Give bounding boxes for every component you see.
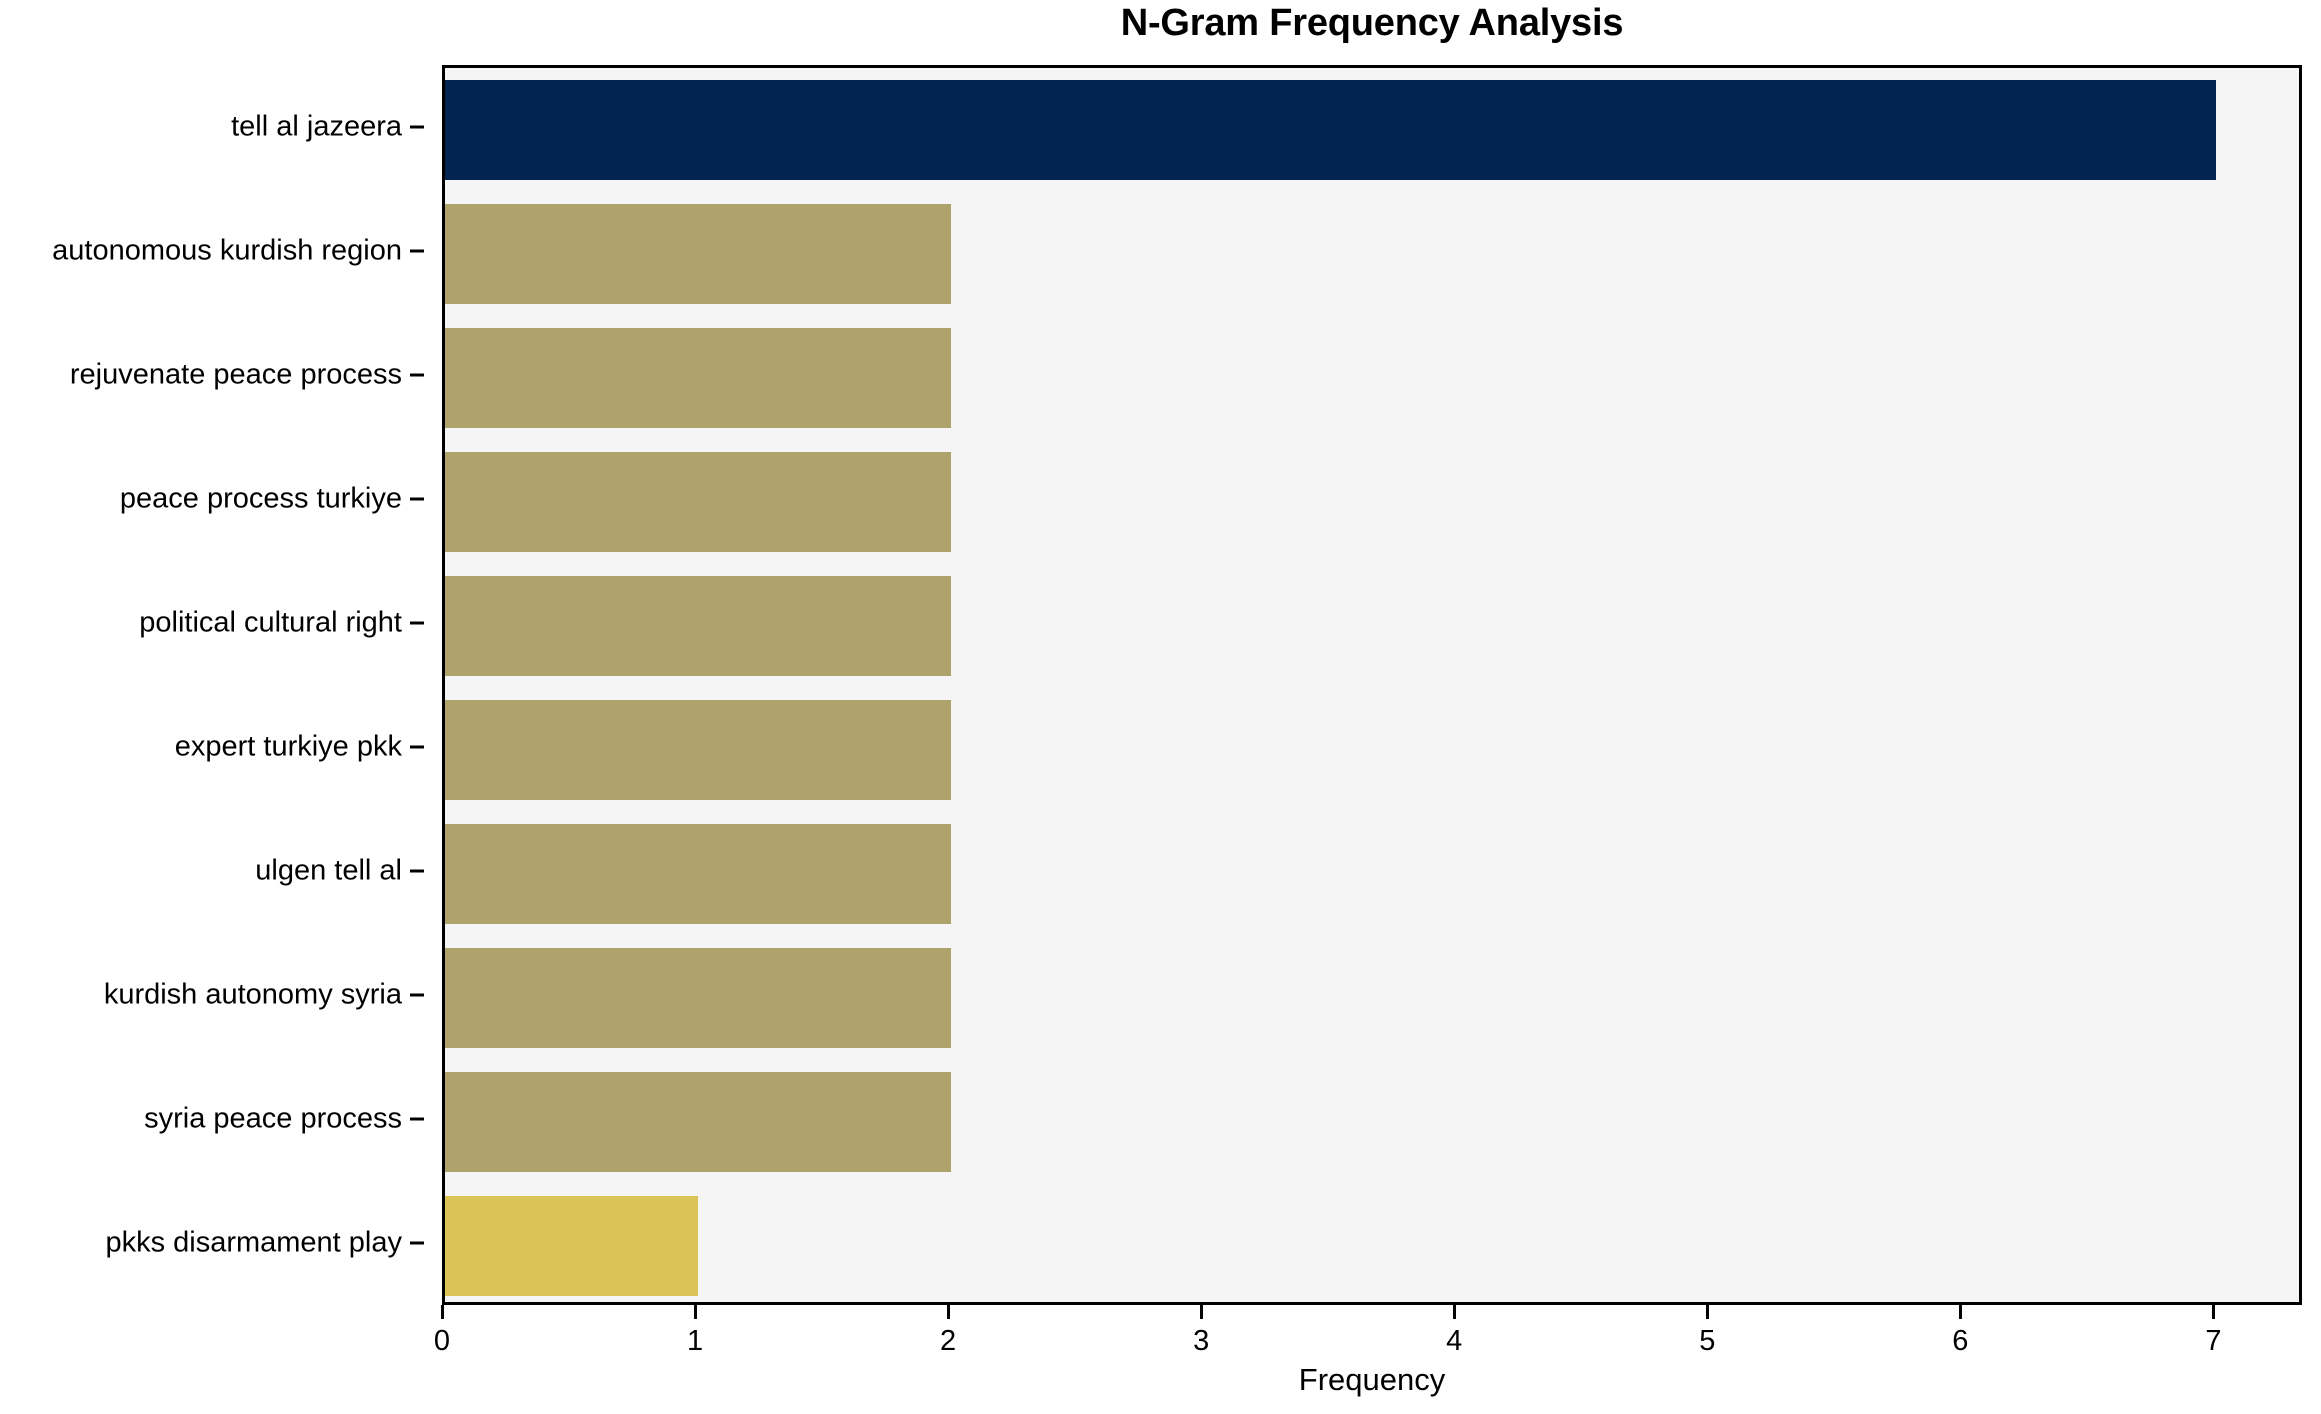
bar xyxy=(445,576,951,675)
x-axis-tick-label: 0 xyxy=(434,1325,450,1358)
page-title: N-Gram Frequency Analysis xyxy=(442,2,2302,45)
y-axis-tick-mark xyxy=(410,126,424,129)
bar xyxy=(445,328,951,427)
y-axis-tick-mark xyxy=(410,746,424,749)
y-axis-tick-mark xyxy=(410,622,424,625)
y-axis-tick-mark xyxy=(410,498,424,501)
y-axis-tick-label: rejuvenate peace process xyxy=(70,359,402,392)
bar xyxy=(445,824,951,923)
x-axis-tick-label: 2 xyxy=(940,1325,956,1358)
plot-area xyxy=(442,65,2302,1305)
y-axis-tick-labels: tell al jazeeraautonomous kurdish region… xyxy=(0,65,424,1305)
x-axis-tick-mark xyxy=(694,1305,697,1319)
x-axis-tick-mark xyxy=(947,1305,950,1319)
x-axis-tick-mark xyxy=(2212,1305,2215,1319)
bars-layer xyxy=(445,68,2299,1302)
bar xyxy=(445,1072,951,1171)
bar xyxy=(445,1196,698,1295)
x-axis-tick-label: 5 xyxy=(1699,1325,1715,1358)
y-axis-tick-mark xyxy=(410,1242,424,1245)
y-axis-tick-label: ulgen tell al xyxy=(255,855,402,888)
y-axis-tick-label: autonomous kurdish region xyxy=(52,235,402,268)
x-axis-tick-label: 1 xyxy=(687,1325,703,1358)
y-axis-tick-mark xyxy=(410,250,424,253)
y-axis-tick-label: peace process turkiye xyxy=(120,483,402,516)
bar xyxy=(445,948,951,1047)
bar xyxy=(445,204,951,303)
x-axis-tick-label: 4 xyxy=(1446,1325,1462,1358)
y-axis-tick-mark xyxy=(410,374,424,377)
bar xyxy=(445,452,951,551)
x-axis-tick-mark xyxy=(441,1305,444,1319)
chart-figure: N-Gram Frequency Analysis tell al jazeer… xyxy=(0,0,2321,1414)
y-axis-tick-label: tell al jazeera xyxy=(231,111,402,144)
y-axis-tick-mark xyxy=(410,1118,424,1121)
bar xyxy=(445,700,951,799)
y-axis-tick-mark xyxy=(410,994,424,997)
x-axis-label: Frequency xyxy=(442,1362,2302,1398)
y-axis-tick-label: pkks disarmament play xyxy=(105,1227,402,1260)
bar xyxy=(445,80,2216,179)
x-axis-tick-mark xyxy=(1706,1305,1709,1319)
y-axis-tick-label: political cultural right xyxy=(139,607,402,640)
x-axis-tick-label: 7 xyxy=(2205,1325,2221,1358)
x-axis-tick-mark xyxy=(1453,1305,1456,1319)
x-axis-tick-mark xyxy=(1200,1305,1203,1319)
y-axis-tick-label: syria peace process xyxy=(144,1103,402,1136)
x-axis-tick-label: 6 xyxy=(1952,1325,1968,1358)
y-axis-tick-label: kurdish autonomy syria xyxy=(104,979,402,1012)
y-axis-tick-mark xyxy=(410,870,424,873)
y-axis-tick-label: expert turkiye pkk xyxy=(175,731,402,764)
x-axis-tick-label: 3 xyxy=(1193,1325,1209,1358)
x-axis-tick-mark xyxy=(1959,1305,1962,1319)
